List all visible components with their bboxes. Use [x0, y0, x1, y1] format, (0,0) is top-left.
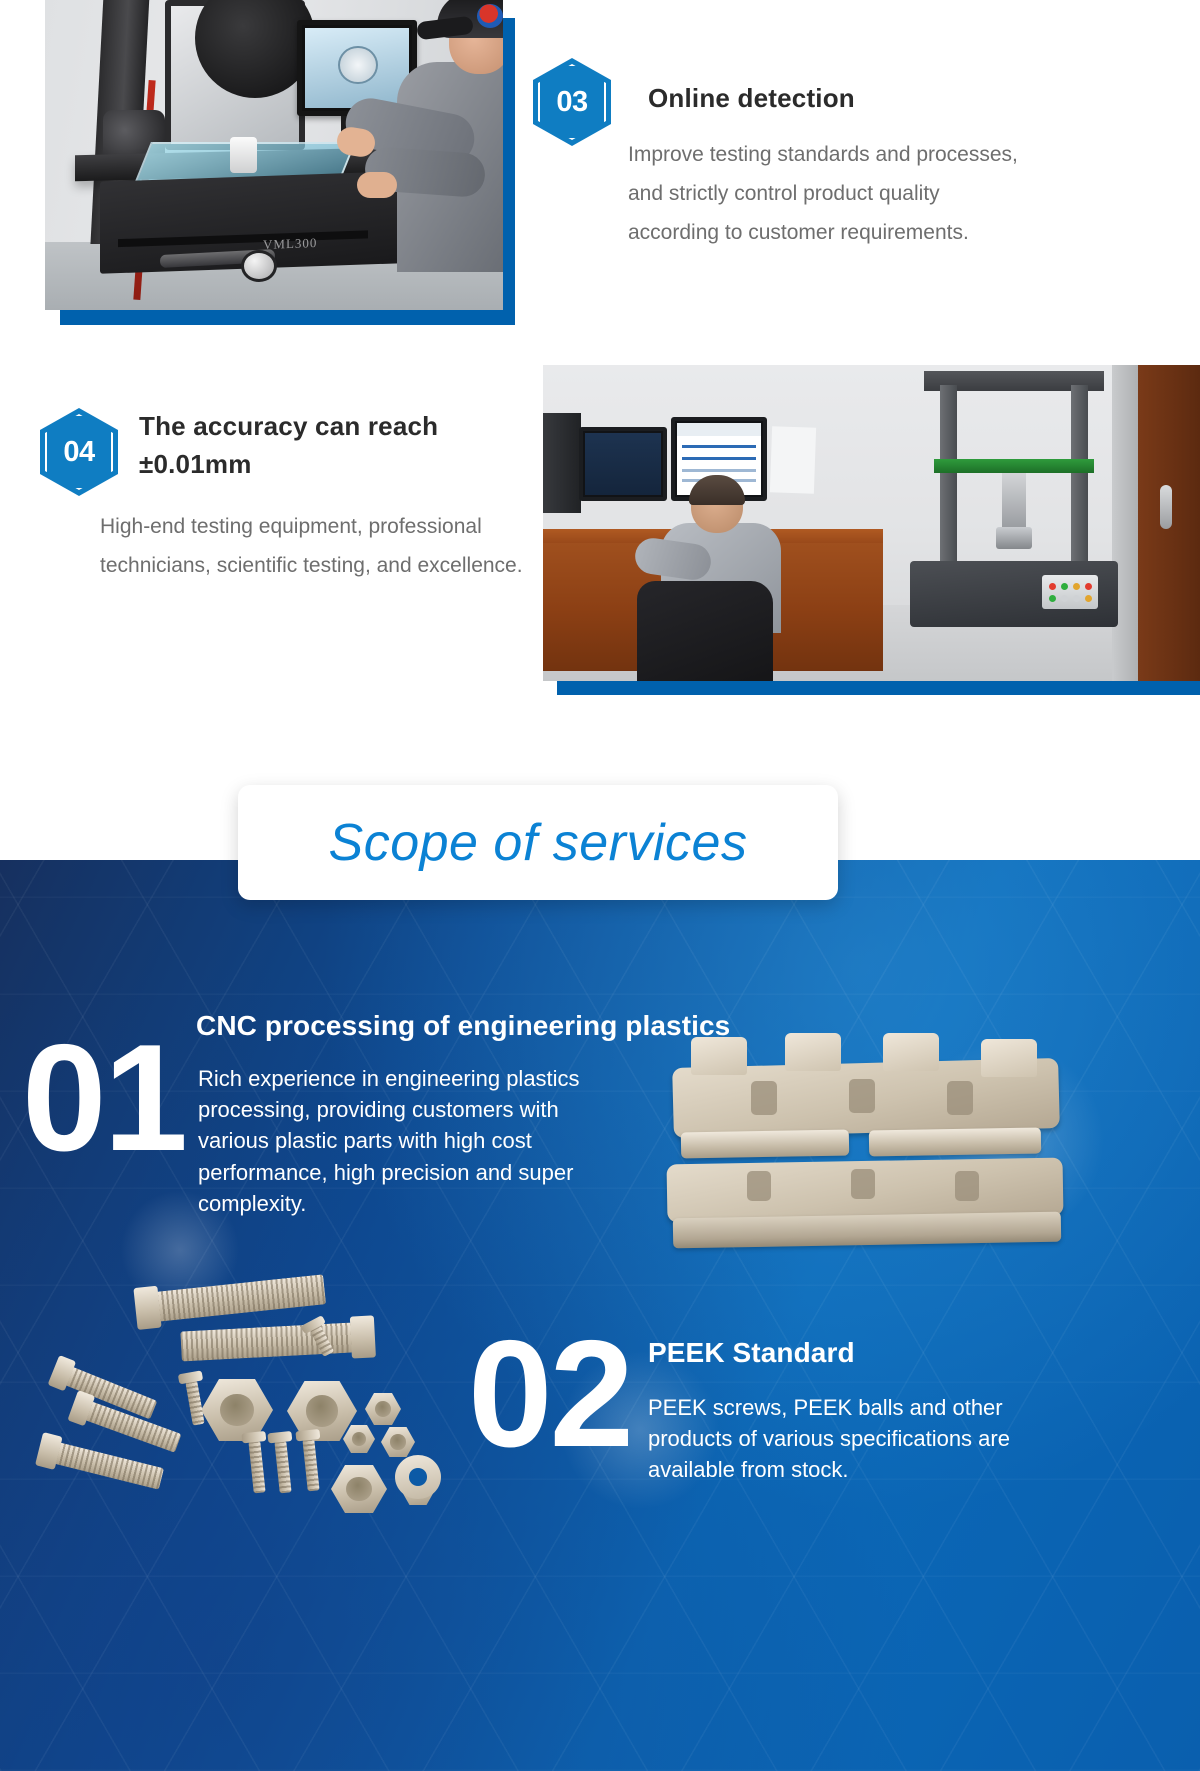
- feature-body-online-detection: Improve testing standards and processes,…: [628, 136, 1028, 253]
- service-number-02: 02: [468, 1318, 631, 1470]
- service-body-peek: PEEK screws, PEEK balls and other produc…: [648, 1392, 1068, 1486]
- photo-frame-right-bar: [503, 18, 515, 325]
- photo-frame-bottom-bar: [557, 681, 1200, 695]
- photo-frame-bottom-bar: [60, 310, 515, 325]
- photo-online-detection: VML300: [45, 0, 515, 325]
- feature-title-online-detection: Online detection: [648, 80, 1148, 118]
- feature-title-accuracy: The accuracy can reach ±0.01mm: [139, 408, 489, 483]
- service-body-cnc: Rich experience in engineering plastics …: [198, 1063, 628, 1219]
- scope-title-card: Scope of services: [238, 785, 838, 900]
- photo-tensile-testing: [543, 365, 1200, 695]
- service-number-01: 01: [22, 1022, 185, 1174]
- feature-number-04: 04: [63, 436, 94, 469]
- product-image-peek-chain-parts: [655, 1035, 1075, 1265]
- photo-online-detection-image: VML300: [45, 0, 503, 310]
- scope-title-text: Scope of services: [329, 813, 748, 873]
- service-title-peek: PEEK Standard: [648, 1335, 1118, 1371]
- photo-tensile-testing-image: [543, 365, 1200, 681]
- feature-badge-03: 03: [533, 58, 611, 146]
- feature-body-accuracy: High-end testing equipment, professional…: [100, 508, 525, 586]
- top-feature-section: VML300 03 Online detection Improve testi…: [0, 0, 1200, 860]
- feature-number-03: 03: [556, 86, 587, 119]
- feature-badge-04: 04: [40, 408, 118, 496]
- product-image-peek-fasteners: [45, 1275, 445, 1540]
